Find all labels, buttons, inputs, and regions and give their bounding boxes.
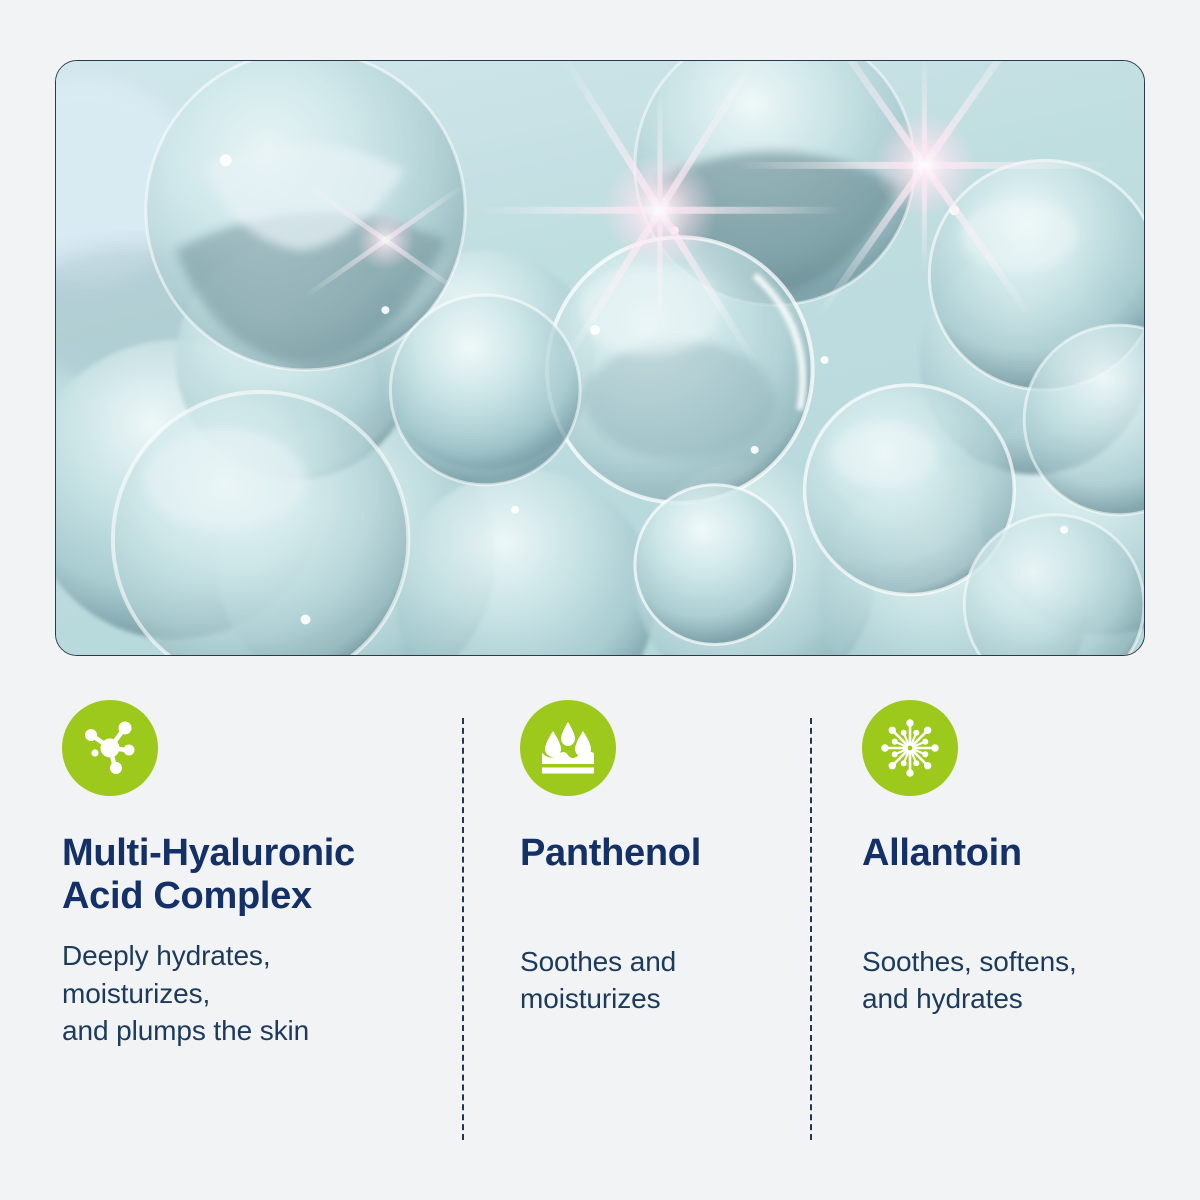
feature-title: Allantoin (862, 832, 1162, 875)
feature-title: Panthenol (520, 832, 790, 875)
feature-column-panthenol: Panthenol Soothes and moisturizes (520, 700, 790, 1018)
feature-column-allantoin: Allantoin Soothes, softens, and hydrates (862, 700, 1162, 1018)
feature-description: Soothes, softens, and hydrates (862, 943, 1162, 1018)
molecule-icon (79, 717, 141, 779)
feature-description: Deeply hydrates, moisturizes, and plumps… (62, 937, 432, 1050)
feature-description: Soothes and moisturizes (520, 943, 790, 1018)
feature-column-multi-hyaluronic-acid-complex: Multi-Hyaluronic Acid Complex Deeply hyd… (62, 700, 432, 1050)
hydrogel-beads-macro-photo (56, 61, 1144, 655)
water-droplets-absorption-icon (538, 719, 598, 777)
molecule-icon-badge (62, 700, 158, 796)
feature-columns: Multi-Hyaluronic Acid Complex Deeply hyd… (0, 700, 1200, 1160)
starburst-icon (879, 717, 941, 779)
starburst-icon-badge (862, 700, 958, 796)
feature-title: Multi-Hyaluronic Acid Complex (62, 832, 432, 917)
hero-image (55, 60, 1145, 656)
water-droplets-absorption-icon-badge (520, 700, 616, 796)
